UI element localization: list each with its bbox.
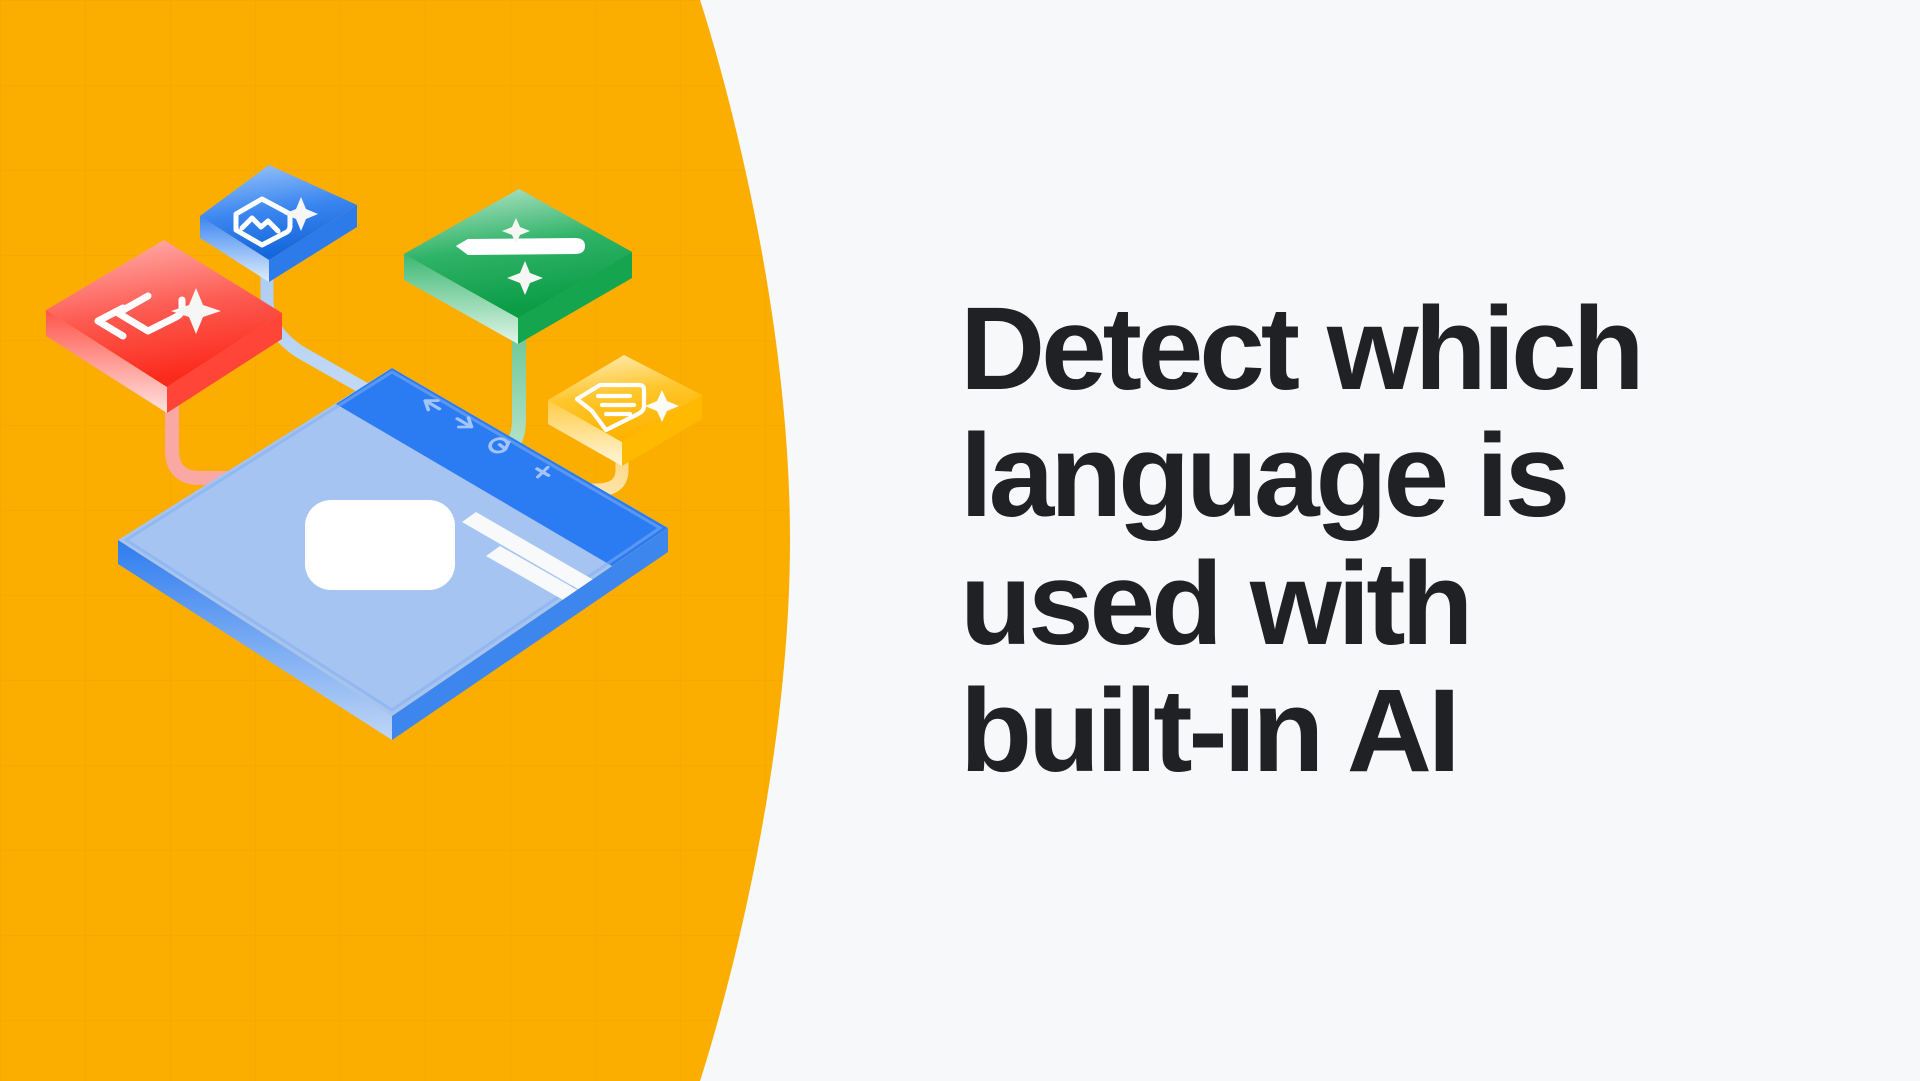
orange-background-panel [0,0,900,1081]
headline-area: Detect which language is used with built… [960,0,1920,1081]
background-grid [0,0,900,1081]
page-title: Detect which language is used with built… [960,286,1701,796]
headline-line-3: used with [960,541,1641,668]
headline-line-2: language is [960,413,1641,540]
headline-line-4: built-in AI [960,668,1641,795]
headline-line-1: Detect which [960,286,1641,413]
hero-banner: Detect which language is used with built… [0,0,1920,1081]
